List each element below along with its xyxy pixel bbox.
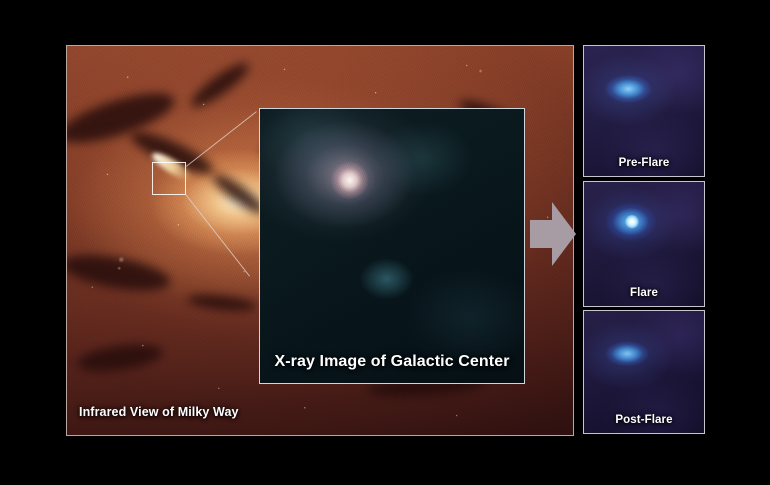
flare-panel-post-flare: Post-Flare [583, 310, 705, 434]
xray-panel-caption: X-ray Image of Galactic Center [260, 353, 524, 371]
xray-galactic-center-panel: X-ray Image of Galactic Center [259, 108, 525, 384]
infrared-panel-caption: Infrared View of Milky Way [79, 405, 239, 419]
flare-panel-pre-flare: Pre-Flare [583, 45, 705, 177]
figure-canvas: Infrared View of Milky Way X-ray Image o… [0, 0, 770, 485]
flare-panel-flare: Flare [583, 181, 705, 307]
flare-caption: Flare [584, 287, 704, 299]
galactic-center-highlight-box [152, 162, 186, 195]
right-arrow-icon [530, 200, 576, 268]
post-flare-caption: Post-Flare [584, 414, 704, 426]
image-grain [260, 109, 524, 383]
pre-flare-caption: Pre-Flare [584, 157, 704, 169]
